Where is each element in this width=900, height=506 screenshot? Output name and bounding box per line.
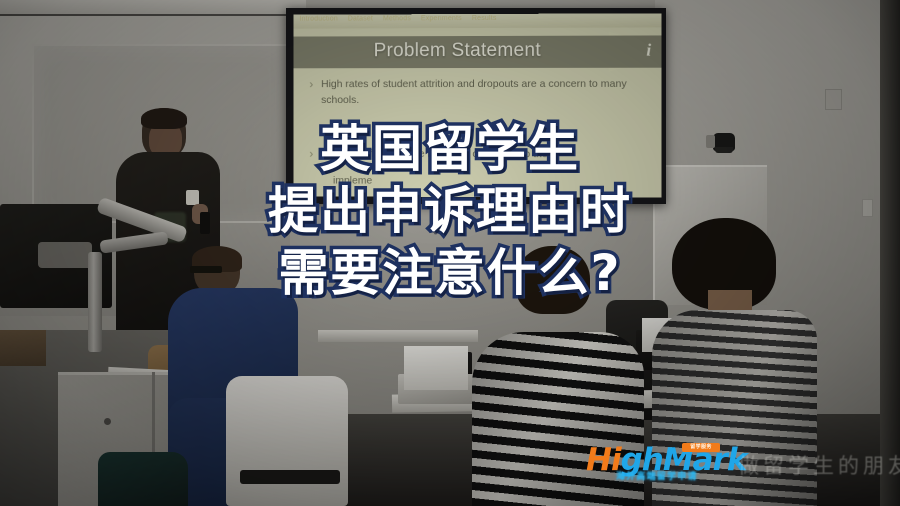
wall-camera-icon <box>713 133 735 151</box>
backpack <box>98 452 188 506</box>
instructor-badge <box>186 190 199 205</box>
monitor-hinge <box>38 242 92 268</box>
slide-tabs: Introduction Dataset Methods Experiments… <box>294 13 662 23</box>
classroom-photo: Introduction Dataset Methods Experiments… <box>0 0 900 506</box>
slide-tab-4: Results <box>472 15 497 22</box>
far-desk <box>318 330 478 342</box>
slide-tab-0: Introduction <box>299 16 337 23</box>
logo-badge: 留学服务 <box>682 443 720 452</box>
slide-bullet-3: impleme <box>307 173 647 190</box>
slide-tab-2: Methods <box>383 15 411 22</box>
glasses-icon <box>190 266 222 273</box>
slide-bullet-1: ...hool <box>307 119 647 136</box>
slide-tab-bar: Introduction Dataset Methods Experiments… <box>294 13 662 28</box>
door-jamb <box>880 0 900 506</box>
slide-bullet-0: High rates of student attrition and drop… <box>307 76 647 109</box>
projected-slide: Introduction Dataset Methods Experiments… <box>294 13 662 197</box>
slide-tab-3: Experiments <box>421 15 462 22</box>
watermark-tagline: 做留学生的朋友 <box>738 450 900 480</box>
slide-tab-1: Dataset <box>348 15 373 22</box>
student-striped-head <box>516 246 590 314</box>
cardboard-box <box>0 330 46 366</box>
white-chair <box>226 376 348 506</box>
watermark: HighMark 留学服务 海外高端留学申请 做留学生的朋友 <box>586 442 896 494</box>
highmark-logo: HighMark 留学服务 海外高端留学申请 <box>586 442 756 490</box>
instructor-hair <box>141 108 187 129</box>
phone-icon <box>200 212 210 234</box>
logo-subtitle: 海外高端留学申请 <box>616 469 698 482</box>
slide-title: Problem Statement <box>294 40 623 63</box>
cabinet-knob-upper <box>104 418 111 425</box>
slide-body: High rates of student attrition and drop… <box>307 76 647 198</box>
laptop-screen-left <box>404 346 468 390</box>
wall-plate <box>825 89 842 110</box>
monitor-arm-post <box>88 252 102 352</box>
screenshot-root: Introduction Dataset Methods Experiments… <box>0 0 900 506</box>
info-icon: i <box>646 41 651 61</box>
logo-badge-text: 留学服务 <box>682 443 720 452</box>
slide-bullet-2: A variety of factors are known to contri… <box>307 146 647 163</box>
light-switch <box>862 199 873 217</box>
